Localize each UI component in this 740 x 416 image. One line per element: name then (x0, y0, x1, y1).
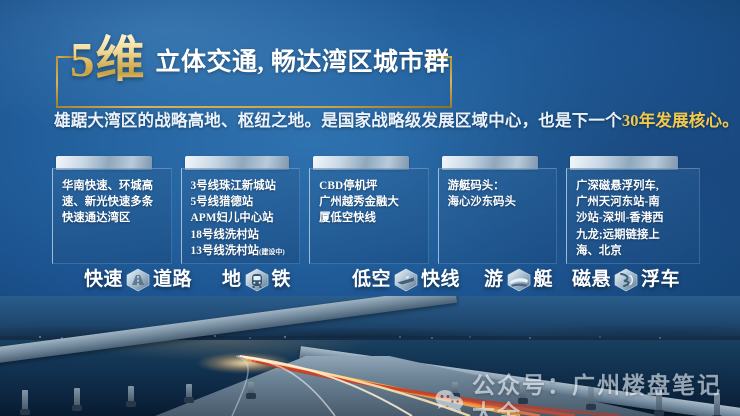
label-suffix: 铁 (272, 268, 292, 292)
card-line: 游艇码头： (448, 178, 551, 194)
feature-card-low-altitude[interactable]: CBD停机坪 广州越秀金融大 厦低空快线 (309, 156, 429, 264)
hex-metro-icon (244, 268, 270, 292)
card-body: 3号线珠江新城站 5号线猎德站 APM妇儿中心站 18号线洗村站 13号线洗村站… (181, 168, 301, 264)
category-label-maglev[interactable]: 磁悬 浮车 (572, 268, 680, 292)
card-line: 快速通达湾区 (62, 210, 165, 226)
card-line: 速、新光快速多条 (62, 194, 165, 210)
feature-card-row: 华南快速、环城高 速、新光快速多条 快速通达湾区 3号线珠江新城站 5号线猎德站… (52, 156, 700, 266)
card-body: 游艇码头： 海心沙东码头 (438, 168, 558, 264)
label-prefix: 快速 (84, 268, 123, 292)
watermark-text: 公众号：广州楼盘笔记大全 (472, 372, 740, 416)
hex-plane-icon (393, 268, 419, 292)
label-prefix: 磁悬 (572, 268, 611, 292)
category-label-yacht[interactable]: 游 艇 (484, 268, 553, 292)
label-suffix: 浮车 (641, 268, 680, 292)
subtitle-highlight: 30年发展核心。 (622, 111, 739, 130)
card-line: 沙站-深圳-香港西 (576, 210, 693, 226)
feature-card-metro[interactable]: 3号线珠江新城站 5号线猎德站 APM妇儿中心站 18号线洗村站 13号线洗村站… (181, 156, 301, 264)
card-line: 广州越秀金融大 (319, 194, 422, 210)
subtitle: 雄踞大湾区的战略高地、枢纽之地。是国家战略级发展区域中心，也是下一个30年发展核… (54, 110, 739, 132)
hex-road-icon (125, 268, 151, 292)
poster-canvas: 5维 立体交通, 畅达湾区城市群 雄踞大湾区的战略高地、枢纽之地。是国家战略级发… (0, 0, 740, 416)
feature-card-expressway[interactable]: 华南快速、环城高 速、新光快速多条 快速通达湾区 (52, 156, 172, 264)
category-label-low-altitude[interactable]: 低空 快线 (352, 268, 460, 292)
card-line: 厦低空快线 (319, 210, 422, 226)
watermark: 公众号：广州楼盘笔记大全 (434, 372, 740, 416)
headlight-glow (180, 348, 310, 378)
card-line: CBD停机坪 (319, 178, 422, 194)
card-line: APM妇儿中心站 (191, 210, 294, 226)
card-line: 18号线洗村站 (191, 227, 294, 243)
card-line-text: 13号线洗村站 (191, 245, 259, 257)
card-line-note: (建设中) (259, 248, 285, 256)
label-prefix: 低空 (352, 268, 391, 292)
card-line: 广深磁悬浮列车, (576, 178, 693, 194)
hex-maglev-icon (613, 268, 639, 292)
card-line: 九龙;远期链接上 (576, 227, 693, 243)
wechat-icon (434, 387, 464, 413)
title-block: 5维 立体交通, 畅达湾区城市群 (56, 34, 456, 98)
card-body: 广深磁悬浮列车, 广州天河东站-南 沙站-深圳-香港西 九龙;远期链接上 海、北… (566, 168, 700, 264)
title-text: 立体交通, 畅达湾区城市群 (156, 43, 450, 86)
label-prefix: 地 (222, 268, 242, 292)
card-line: 5号线猎德站 (191, 194, 294, 210)
card-body: 华南快速、环城高 速、新光快速多条 快速通达湾区 (52, 168, 172, 264)
label-suffix: 艇 (534, 268, 554, 292)
card-line: 海心沙东码头 (448, 194, 551, 210)
card-body: CBD停机坪 广州越秀金融大 厦低空快线 (309, 168, 429, 264)
card-line: 3号线珠江新城站 (191, 178, 294, 194)
feature-card-maglev[interactable]: 广深磁悬浮列车, 广州天河东站-南 沙站-深圳-香港西 九龙;远期链接上 海、北… (566, 156, 700, 264)
label-suffix: 道路 (153, 268, 192, 292)
feature-card-yacht[interactable]: 游艇码头： 海心沙东码头 (438, 156, 558, 264)
card-line: 广州天河东站-南 (576, 194, 693, 210)
card-line: 13号线洗村站(建设中) (191, 243, 294, 260)
category-label-row: 快速 道路 地 (52, 268, 704, 298)
subtitle-main: 雄踞大湾区的战略高地、枢纽之地。是国家战略级发展区域中心，也是下一个 (54, 111, 622, 130)
label-prefix: 游 (484, 268, 504, 292)
card-line: 海、北京 (576, 243, 693, 259)
title-number: 5维 (70, 34, 146, 86)
hex-boat-icon (506, 268, 532, 292)
category-label-metro[interactable]: 地 铁 (222, 268, 291, 292)
card-line: 华南快速、环城高 (62, 178, 165, 194)
category-label-road[interactable]: 快速 道路 (84, 268, 192, 292)
label-suffix: 快线 (421, 268, 460, 292)
